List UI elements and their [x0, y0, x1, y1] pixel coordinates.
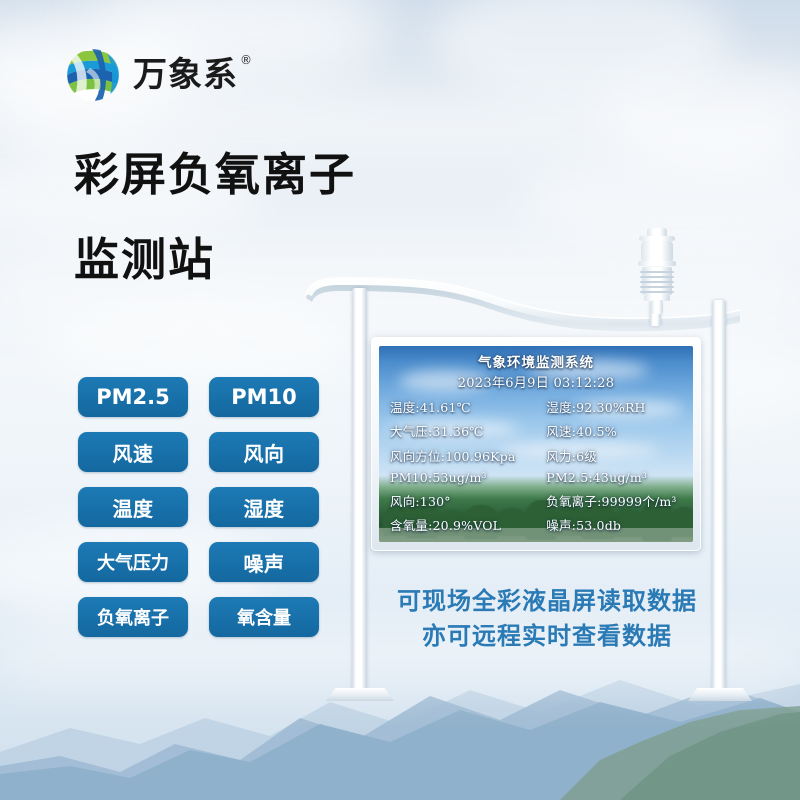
feature-tag-winddirection[interactable]: 风向: [209, 432, 319, 472]
feature-tag-windspeed[interactable]: 风速: [78, 432, 188, 472]
screen-readout: 气象环境监测系统 2023年6月9日 03:12:28 温度:41.61℃ 湿度…: [379, 346, 693, 542]
cloud-puff: [430, 0, 730, 100]
brand-logo: 万象系 ®: [64, 46, 238, 104]
right-support-post: [712, 300, 726, 694]
readout-row: PM10:53ug/m³ PM2.5:43ug/m³: [379, 470, 693, 485]
cloud-puff: [520, 150, 800, 250]
feature-tag-negativeoxygenion[interactable]: 负氧离子: [78, 597, 188, 637]
promo-line-1: 可现场全彩液晶屏读取数据: [382, 584, 712, 619]
promo-copy: 可现场全彩液晶屏读取数据 亦可远程实时查看数据: [382, 584, 712, 654]
feature-tag-oxygencontent[interactable]: 氧含量: [209, 597, 319, 637]
feature-tag-pm10[interactable]: PM10: [209, 377, 319, 417]
readout-row: 大气压:31.36℃ 风速:40.5%: [379, 421, 693, 440]
sensor-top-plate: [639, 236, 675, 241]
readout-row: 温度:41.61℃ 湿度:92.30%RH: [379, 397, 693, 416]
readout-winddirection: 风向:130°: [379, 491, 542, 510]
feature-tag-noise[interactable]: 噪声: [209, 542, 319, 582]
left-support-post: [352, 288, 367, 694]
globe-swirl-icon: [64, 46, 122, 104]
sensor-top-cap: [647, 228, 667, 237]
readout-oxygencontent: 含氧量:20.9%VOL: [379, 515, 542, 534]
feature-tag-list: PM2.5 PM10 风速 风向 温度 湿度 大气压力 噪声 负氧离子 氧含量: [78, 377, 319, 637]
lcd-display-panel[interactable]: 气象环境监测系统 2023年6月9日 03:12:28 温度:41.61℃ 湿度…: [371, 337, 701, 551]
sky-haze: [0, 96, 800, 156]
readout-row: 含氧量:20.9%VOL 噪声:53.0db: [379, 515, 693, 534]
readout-noise: 噪声:53.0db: [542, 515, 693, 534]
brand-name: 万象系 ®: [133, 58, 238, 92]
promo-line-2: 亦可远程实时查看数据: [382, 619, 712, 654]
readout-pm25: PM2.5:43ug/m³: [542, 470, 693, 485]
readout-row: 风向:130° 负氧离子:99999个/m³: [379, 491, 693, 510]
feature-tag-airpressure[interactable]: 大气压力: [78, 542, 188, 582]
registered-trademark-icon: ®: [240, 54, 253, 66]
readout-windforce: 风力:6级: [542, 446, 693, 465]
product-poster: 万象系 ® 彩屏负氧离子 监测站 PM2.5 PM10 风速 风向 温度 湿度 …: [0, 0, 800, 800]
headline-line-1: 彩屏负氧离子: [74, 152, 454, 197]
brand-name-text: 万象系: [133, 55, 238, 95]
readout-temperature: 温度:41.61℃: [379, 397, 542, 416]
feature-tag-pm25[interactable]: PM2.5: [78, 377, 188, 417]
headline-line-2: 监测站: [74, 237, 454, 282]
forested-ridge-layer: [0, 706, 800, 800]
feature-tag-humidity[interactable]: 湿度: [209, 487, 319, 527]
readout-negativeoxygenion: 负氧离子:99999个/m³: [542, 491, 693, 510]
screen-title: 气象环境监测系统: [379, 351, 693, 371]
readout-humidity: 湿度:92.30%RH: [542, 397, 693, 416]
readout-winddirection-azimuth: 风向方位:100.96Kpa: [379, 446, 542, 465]
lcd-screen: 气象环境监测系统 2023年6月9日 03:12:28 温度:41.61℃ 湿度…: [379, 346, 693, 542]
page-title: 彩屏负氧离子 监测站: [74, 152, 454, 282]
readout-windspeed: 风速:40.5%: [542, 421, 693, 440]
screen-datetime: 2023年6月9日 03:12:28: [379, 372, 693, 391]
readout-pm10: PM10:53ug/m³: [379, 470, 542, 485]
readout-row: 风向方位:100.96Kpa 风力:6级: [379, 446, 693, 465]
feature-tag-temperature[interactable]: 温度: [78, 487, 188, 527]
readout-airpressure: 大气压:31.36℃: [379, 421, 542, 440]
